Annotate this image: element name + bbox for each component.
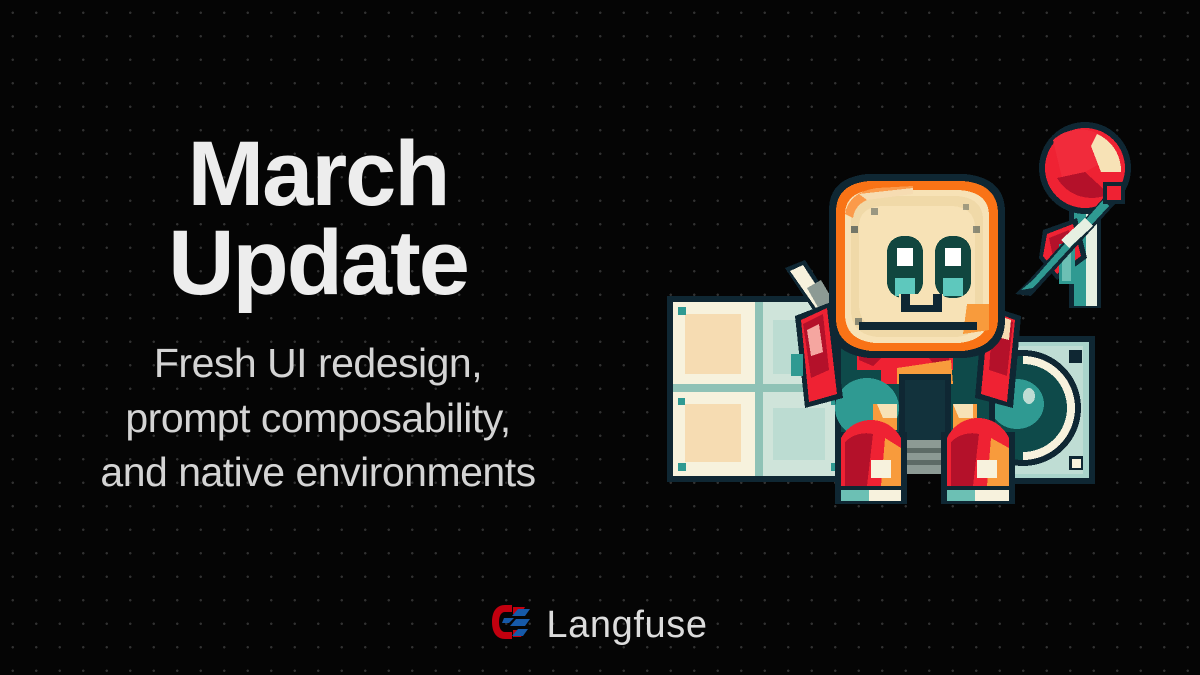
raised-arm bbox=[1039, 122, 1131, 308]
page-subtitle: Fresh UI redesign, prompt composability,… bbox=[0, 336, 636, 498]
brand-logo: Langfuse bbox=[0, 603, 1200, 646]
robot-mouth bbox=[899, 294, 943, 312]
langfuse-logo-icon bbox=[492, 603, 532, 646]
hero-text-block: March Update Fresh UI redesign, prompt c… bbox=[0, 130, 636, 499]
robot-mascot-illustration bbox=[645, 108, 1145, 508]
marketing-banner: March Update Fresh UI redesign, prompt c… bbox=[0, 0, 1200, 675]
langfuse-wordmark: Langfuse bbox=[546, 606, 707, 644]
robot-head bbox=[829, 174, 1005, 358]
page-title: March Update bbox=[0, 130, 636, 308]
